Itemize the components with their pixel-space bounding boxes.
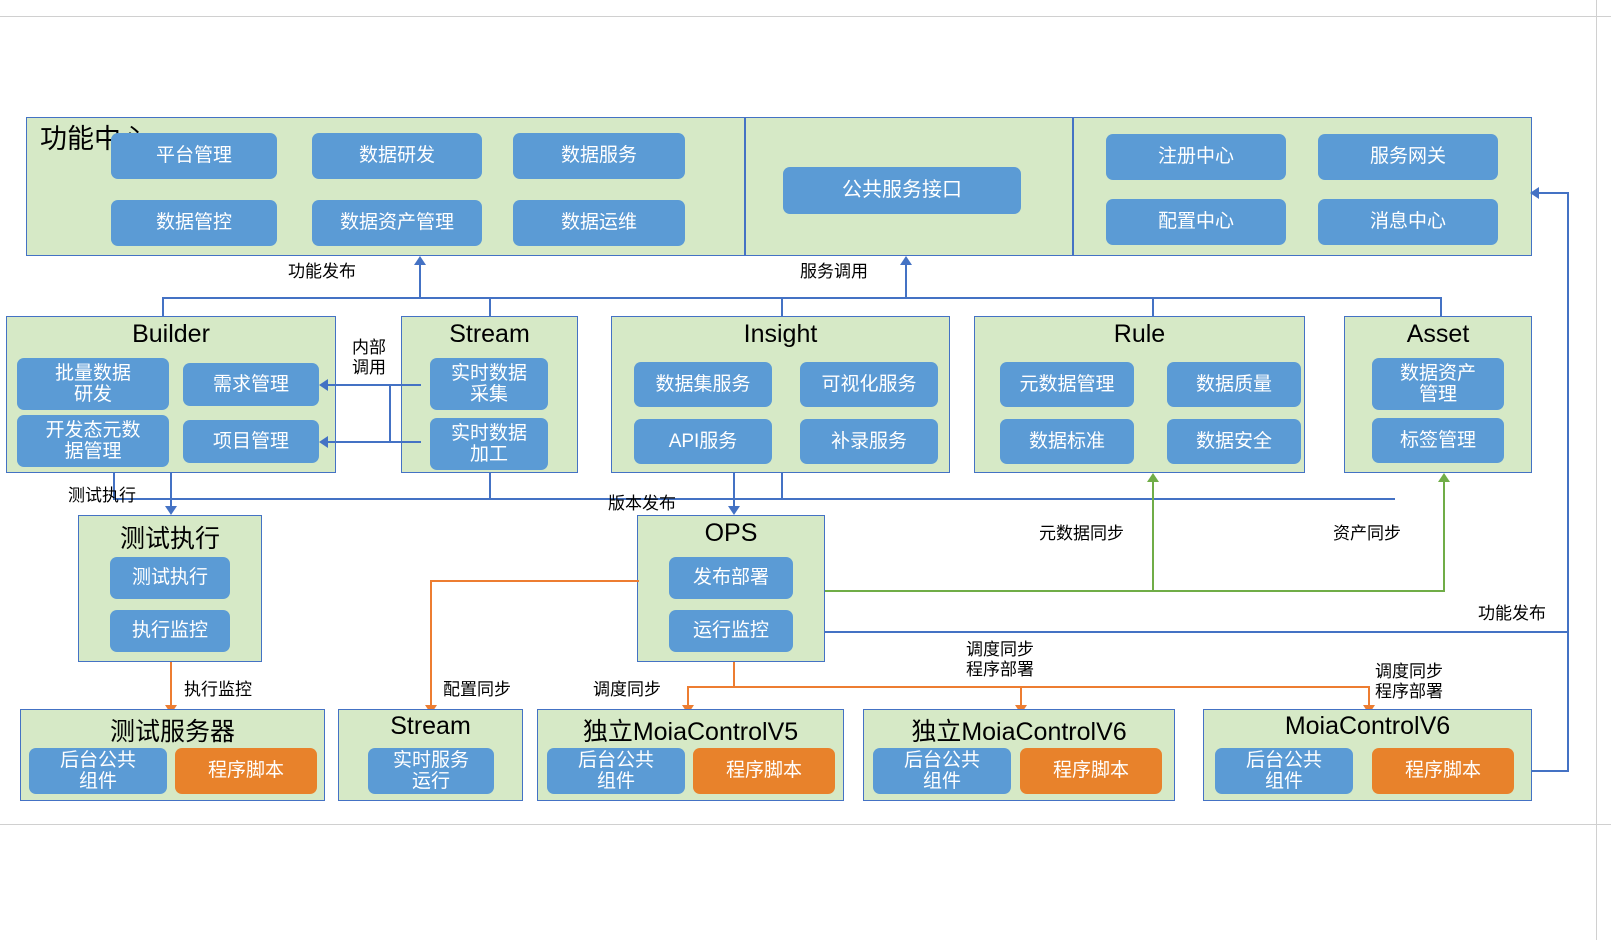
label-schedule-sync-deploy-mid: 调度同步 程序部署	[966, 640, 1034, 681]
orange-riser-config	[430, 580, 432, 709]
function-center-side-label: 功能中心	[40, 124, 92, 154]
chip-metadata-management[interactable]: 元数据管理	[1000, 362, 1134, 407]
chip-realtime-data-collection[interactable]: 实时数据 采集	[430, 358, 548, 410]
chip-realtime-service-run[interactable]: 实时服务 运行	[368, 748, 494, 794]
band-divider-1	[744, 118, 746, 255]
chip-data-quality[interactable]: 数据质量	[1167, 362, 1301, 407]
server-feedback-h	[1532, 770, 1569, 772]
chip-dev-metadata-management[interactable]: 开发态元数 据管理	[17, 415, 169, 467]
module-title-stream: Stream	[401, 320, 578, 349]
chip-message-center[interactable]: 消息中心	[1318, 199, 1498, 245]
arrow-stream-to-req	[319, 379, 328, 391]
server-feedback-riser	[1567, 631, 1569, 771]
chip-release-deploy[interactable]: 发布部署	[669, 557, 793, 599]
chip-data-governance[interactable]: 数据管控	[111, 200, 277, 246]
feedback-line-into-band	[1538, 192, 1569, 194]
label-metadata-sync: 元数据同步	[1039, 524, 1124, 544]
label-function-publish-right: 功能发布	[1478, 604, 1546, 624]
arrow-asset-sync	[1438, 473, 1450, 482]
chip-public-service-interface[interactable]: 公共服务接口	[783, 167, 1021, 214]
module-title-asset: Asset	[1344, 320, 1532, 349]
label-service-call: 服务调用	[800, 262, 868, 282]
arrow-stream-to-proj	[319, 436, 328, 448]
label-test-execute: 测试执行	[68, 486, 136, 506]
chip-data-standard[interactable]: 数据标准	[1000, 419, 1134, 464]
chip-test-execution[interactable]: 测试执行	[110, 557, 230, 599]
chip-dataset-service[interactable]: 数据集服务	[634, 362, 772, 407]
arrow-metadata-sync	[1147, 473, 1159, 482]
chip-data-development[interactable]: 数据研发	[312, 133, 482, 179]
drop-builder	[162, 297, 164, 316]
chip-program-script-v6s[interactable]: 程序脚本	[1020, 748, 1162, 794]
label-exec-monitor: 执行监控	[184, 680, 252, 700]
arrow-service-call	[900, 256, 912, 265]
bus-line-upper	[162, 297, 1442, 299]
chip-backend-common-component-v5[interactable]: 后台公共 组件	[547, 748, 685, 794]
chip-platform-management[interactable]: 平台管理	[111, 133, 277, 179]
bus-line-lower	[113, 498, 1395, 500]
server-title-test: 测试服务器	[20, 712, 325, 748]
chip-program-script[interactable]: 程序脚本	[175, 748, 317, 794]
label-schedule-sync: 调度同步	[593, 680, 661, 700]
server-title-moia-v6-standalone: 独立MoiaControlV6	[863, 712, 1175, 748]
chip-registry-center[interactable]: 注册中心	[1106, 134, 1286, 180]
drop-stream	[489, 297, 491, 316]
drop-test-exec	[170, 473, 172, 509]
frame-line-bottom	[0, 824, 1611, 825]
chip-execution-monitor[interactable]: 执行监控	[110, 610, 230, 652]
chip-data-asset-management[interactable]: 数据资产管理	[312, 200, 482, 246]
drop-asset	[1440, 297, 1442, 316]
label-asset-sync: 资产同步	[1333, 524, 1401, 544]
link-stream-to-req	[325, 384, 421, 386]
riser-insight-down	[781, 473, 783, 498]
chip-data-operations[interactable]: 数据运维	[513, 200, 685, 246]
arrow-test-exec	[165, 506, 177, 515]
green-riser-rule	[1152, 482, 1154, 591]
orange-branch-bus	[687, 686, 1370, 688]
label-version-publish: 版本发布	[608, 494, 676, 514]
chip-visualization-service[interactable]: 可视化服务	[800, 362, 938, 407]
orange-line-config	[430, 580, 639, 582]
arrow-ops	[728, 506, 740, 515]
feedback-line-h	[825, 631, 1569, 633]
server-title-moia-v6: MoiaControlV6	[1203, 712, 1532, 741]
riser-service-call	[905, 264, 907, 298]
band-divider-2	[1072, 118, 1074, 255]
module-title-ops: OPS	[637, 519, 825, 548]
frame-line-top	[0, 16, 1611, 17]
architecture-diagram: 功能中心 平台管理 数据研发 数据服务 数据管控 数据资产管理 数据运维 公共服…	[0, 0, 1611, 940]
chip-config-center[interactable]: 配置中心	[1106, 199, 1286, 245]
label-internal-call: 内部 调用	[343, 338, 395, 379]
frame-line-right	[1596, 0, 1597, 940]
chip-program-script-v6[interactable]: 程序脚本	[1372, 748, 1514, 794]
chip-data-service[interactable]: 数据服务	[513, 133, 685, 179]
arrow-feedback-into-band	[1530, 187, 1539, 199]
chip-backend-common-component-v6s[interactable]: 后台公共 组件	[873, 748, 1011, 794]
orange-ops-stem	[733, 662, 735, 686]
chip-tag-management[interactable]: 标签管理	[1372, 418, 1504, 463]
chip-service-gateway[interactable]: 服务网关	[1318, 134, 1498, 180]
chip-batch-data-development[interactable]: 批量数据 研发	[17, 358, 169, 410]
chip-backend-common-component[interactable]: 后台公共 组件	[29, 748, 167, 794]
drop-insight	[781, 297, 783, 316]
label-config-sync: 配置同步	[443, 680, 511, 700]
chip-program-script-v5[interactable]: 程序脚本	[693, 748, 835, 794]
drop-rule	[1152, 297, 1154, 316]
riser-stream-down	[489, 473, 491, 498]
green-riser-asset	[1443, 482, 1445, 591]
chip-asset-management[interactable]: 数据资产 管理	[1372, 358, 1504, 410]
green-sync-bus	[825, 590, 1445, 592]
module-title-test-execution: 测试执行	[78, 519, 262, 555]
drop-ops	[733, 473, 735, 509]
module-title-rule: Rule	[974, 320, 1305, 349]
riser-function-publish	[419, 264, 421, 298]
link-stream-riser	[389, 384, 391, 442]
chip-realtime-data-processing[interactable]: 实时数据 加工	[430, 418, 548, 470]
server-title-stream: Stream	[338, 712, 523, 741]
chip-requirement-management[interactable]: 需求管理	[183, 363, 319, 406]
feedback-line-v	[1567, 192, 1569, 632]
chip-api-service[interactable]: API服务	[634, 419, 772, 464]
chip-supplement-service[interactable]: 补录服务	[800, 419, 938, 464]
chip-data-security[interactable]: 数据安全	[1167, 419, 1301, 464]
label-function-publish-top: 功能发布	[288, 262, 356, 282]
module-title-insight: Insight	[611, 320, 950, 349]
module-title-builder: Builder	[6, 320, 336, 349]
server-title-moia-v5: 独立MoiaControlV5	[537, 712, 844, 748]
chip-project-management[interactable]: 项目管理	[183, 420, 319, 463]
chip-runtime-monitor[interactable]: 运行监控	[669, 610, 793, 652]
label-schedule-sync-deploy-right: 调度同步 程序部署	[1375, 662, 1443, 703]
link-stream-to-proj	[325, 441, 421, 443]
chip-backend-common-component-v6[interactable]: 后台公共 组件	[1215, 748, 1353, 794]
arrow-function-publish	[414, 256, 426, 265]
orange-riser-test-server	[170, 662, 172, 709]
